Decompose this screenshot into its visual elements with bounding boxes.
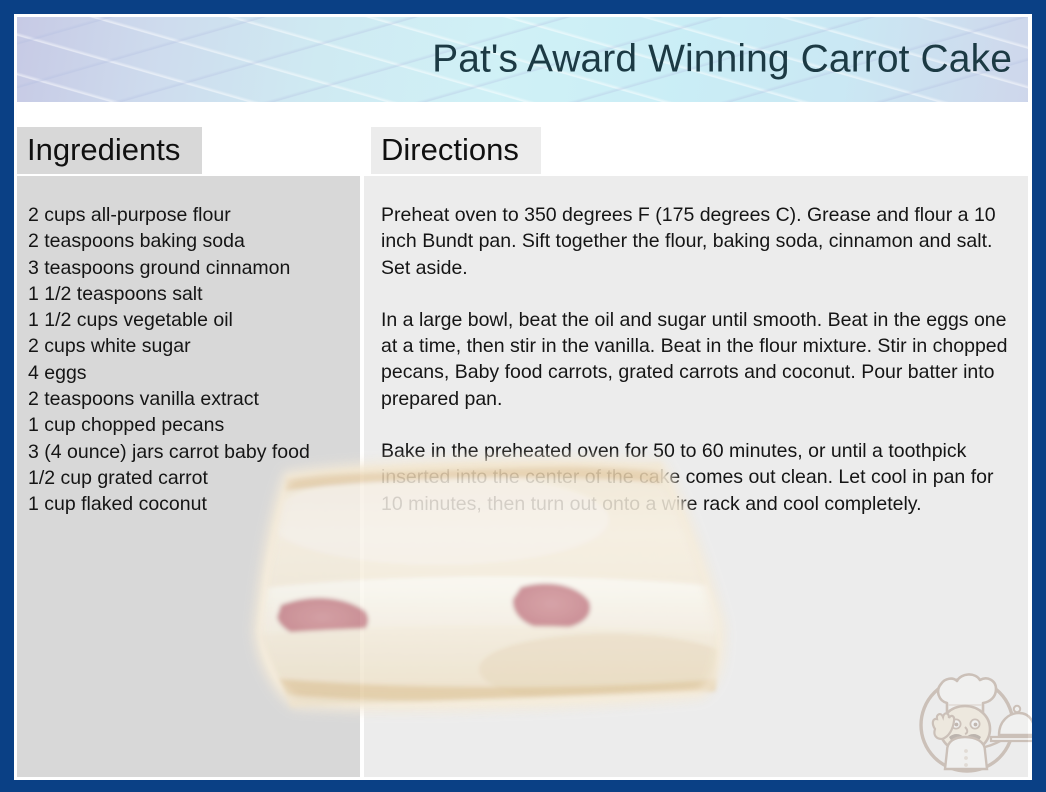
ingredient-item: 1 cup chopped pecans [28,412,352,438]
ingredients-panel: 2 cups all-purpose flour2 teaspoons baki… [17,176,360,777]
recipe-card: Pat's Award Winning Carrot Cake Ingredie… [0,0,1046,792]
ingredient-item: 4 eggs [28,360,352,386]
ingredient-item: 2 teaspoons vanilla extract [28,386,352,412]
direction-paragraph: Preheat oven to 350 degrees F (175 degre… [381,202,1016,281]
ingredients-heading: Ingredients [17,127,202,174]
ingredient-item: 1 1/2 cups vegetable oil [28,307,352,333]
title-banner: Pat's Award Winning Carrot Cake [17,17,1028,102]
ingredient-item: 1 1/2 teaspoons salt [28,281,352,307]
ingredient-item: 1/2 cup grated carrot [28,465,352,491]
ingredient-item: 1 cup flaked coconut [28,491,352,517]
directions-panel: Preheat oven to 350 degrees F (175 degre… [364,176,1028,777]
ingredient-item: 3 (4 ounce) jars carrot baby food [28,439,352,465]
ingredient-item: 3 teaspoons ground cinnamon [28,255,352,281]
direction-paragraph: In a large bowl, beat the oil and sugar … [381,307,1016,412]
directions-text: Preheat oven to 350 degrees F (175 degre… [381,202,1016,517]
direction-paragraph: Bake in the preheated oven for 50 to 60 … [381,438,1016,517]
ingredient-item: 2 cups all-purpose flour [28,202,352,228]
ingredient-item: 2 teaspoons baking soda [28,228,352,254]
directions-heading: Directions [371,127,541,174]
ingredients-list: 2 cups all-purpose flour2 teaspoons baki… [28,202,352,518]
ingredient-item: 2 cups white sugar [28,333,352,359]
recipe-sheet: Pat's Award Winning Carrot Cake Ingredie… [14,14,1032,780]
page-title: Pat's Award Winning Carrot Cake [432,39,1012,80]
